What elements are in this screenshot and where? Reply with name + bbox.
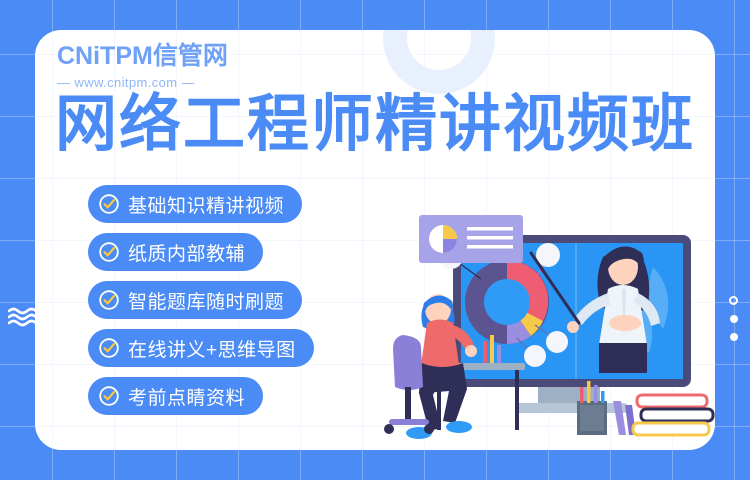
donut-chart	[465, 260, 549, 344]
dot-filled-icon	[730, 315, 738, 323]
check-circle-icon	[98, 241, 120, 263]
feature-item-3[interactable]: 智能题库随时刷题	[88, 281, 302, 319]
book-stack	[633, 395, 713, 435]
monitor-stand-neck	[538, 387, 600, 403]
check-circle-icon	[98, 385, 120, 407]
screen-divider	[575, 243, 577, 379]
teacher-skirt	[599, 343, 647, 373]
dot-filled-icon	[730, 333, 738, 341]
promo-banner: CNiTPM信管网 — www.cnitpm.com — 网络工程师精讲视频班 …	[0, 0, 750, 480]
logo-name: CNiTPM信管网	[57, 44, 257, 69]
brand-logo[interactable]: CNiTPM信管网 — www.cnitpm.com —	[57, 44, 257, 90]
monitor-stand-base	[515, 403, 627, 413]
dot-outline-icon	[729, 296, 738, 305]
feature-item-1[interactable]: 基础知识精讲视频	[88, 185, 302, 223]
feature-item-5[interactable]: 考前点睛资料	[88, 377, 263, 415]
feature-label: 在线讲义+思维导图	[128, 335, 296, 362]
check-circle-icon	[98, 193, 120, 215]
check-circle-icon	[98, 289, 120, 311]
feature-item-2[interactable]: 纸质内部教辅	[88, 233, 263, 271]
content-card: CNiTPM信管网 — www.cnitpm.com — 网络工程师精讲视频班 …	[35, 30, 715, 450]
stats-card	[419, 215, 523, 263]
check-circle-icon	[98, 337, 120, 359]
feature-label: 智能题库随时刷题	[128, 287, 284, 314]
feature-list: 基础知识精讲视频 纸质内部教辅 智能题库随时刷题	[88, 185, 314, 415]
feature-item-4[interactable]: 在线讲义+思维导图	[88, 329, 314, 367]
dot-decoration-group	[729, 296, 738, 341]
feature-label: 考前点睛资料	[128, 383, 245, 410]
online-class-illustration	[375, 205, 715, 445]
logo-url: — www.cnitpm.com —	[57, 75, 257, 90]
student-shoe	[446, 421, 472, 433]
page-title: 网络工程师精讲视频班	[49, 92, 701, 157]
feature-label: 基础知识精讲视频	[128, 191, 284, 218]
feature-label: 纸质内部教辅	[128, 239, 245, 266]
